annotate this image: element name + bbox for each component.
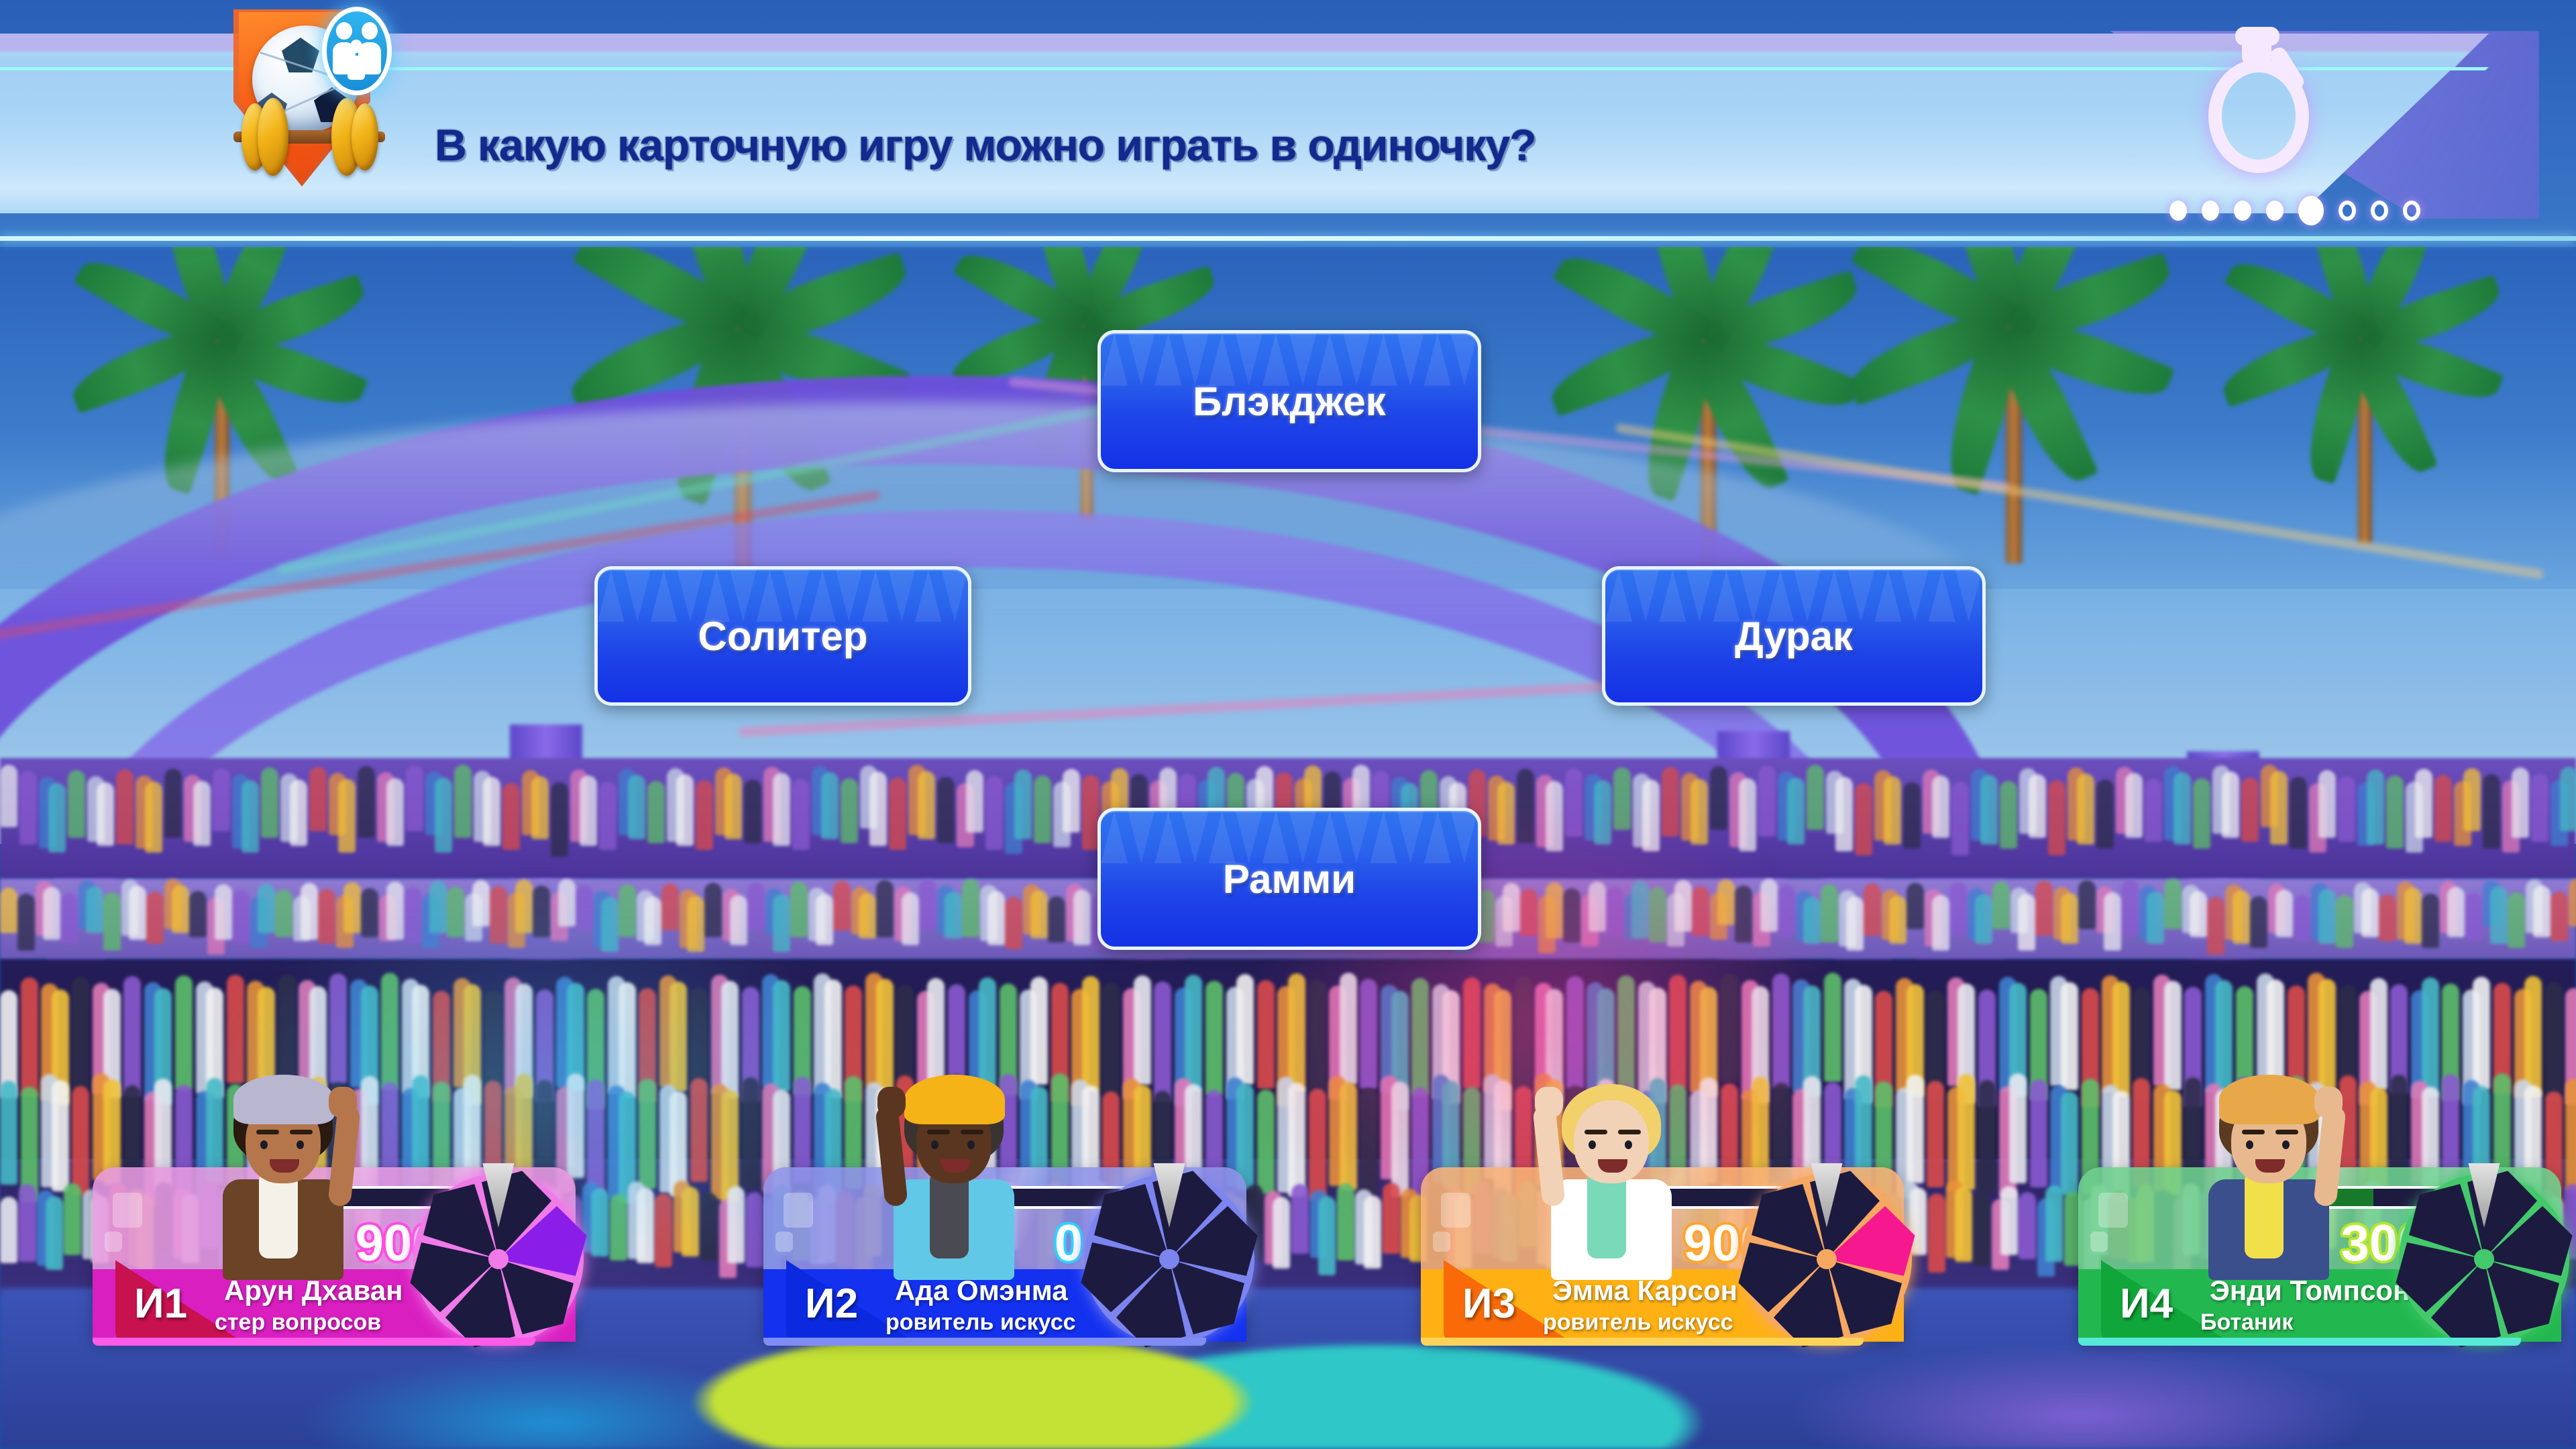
header-bottom-edge bbox=[0, 236, 2576, 241]
family-people-icon bbox=[322, 7, 392, 95]
answer-button-1[interactable]: Блэкджек bbox=[1097, 330, 1481, 472]
wheel-hub bbox=[1817, 1249, 1837, 1269]
triangle-shape bbox=[1874, 570, 1901, 622]
player-card[interactable]: 0И2Ада Омэнмаровитель искусс bbox=[711, 1167, 1301, 1362]
triangle-shape bbox=[1424, 333, 1451, 386]
triangle-shape bbox=[1128, 811, 1155, 863]
triangle-shape bbox=[598, 570, 624, 622]
card-decor-chip bbox=[2098, 1193, 2128, 1228]
triangle-shape bbox=[1451, 811, 1478, 863]
card-decor-chip bbox=[113, 1193, 142, 1228]
answer-label-2: Солитер bbox=[698, 613, 868, 659]
progress-dot-completed bbox=[2202, 201, 2219, 221]
player-slot-label: И1 bbox=[134, 1280, 187, 1328]
triangle-shape bbox=[1955, 570, 1982, 622]
card-decor-chip bbox=[784, 1193, 813, 1228]
player-card-baseline bbox=[93, 1338, 535, 1346]
triangle-shape bbox=[1397, 333, 1424, 386]
progress-dot-completed bbox=[2266, 201, 2284, 221]
triangle-shape bbox=[1632, 570, 1659, 622]
triangle-shape bbox=[889, 570, 915, 622]
stopwatch-icon bbox=[2200, 20, 2328, 174]
card-decor-chip bbox=[775, 1232, 793, 1252]
question-text: В какую карточную игру можно играть в од… bbox=[435, 119, 1884, 170]
progress-dot-upcoming bbox=[2371, 201, 2388, 221]
player-card-baseline bbox=[2078, 1338, 2521, 1346]
player-card-baseline bbox=[1421, 1338, 1864, 1346]
triangle-shape bbox=[941, 570, 967, 622]
player-title: ровитель искусс bbox=[885, 1309, 1100, 1336]
wheel-hub bbox=[2474, 1249, 2494, 1269]
answer-button-3[interactable]: Дурак bbox=[1602, 566, 1986, 706]
player-answer-wheel bbox=[413, 1174, 584, 1344]
triangle-shape bbox=[1424, 811, 1451, 863]
triangle-shape bbox=[1686, 570, 1713, 622]
triangle-shape bbox=[624, 570, 650, 622]
avatar bbox=[195, 1079, 416, 1280]
triangle-shape bbox=[1605, 570, 1632, 622]
dumbbell-icon bbox=[232, 93, 386, 180]
progress-dot-current bbox=[2298, 196, 2324, 225]
triangle-shape bbox=[1155, 333, 1181, 386]
card-decor-chip bbox=[1433, 1232, 1450, 1252]
player-slot-label: И4 bbox=[2120, 1280, 2173, 1328]
question-header: В какую карточную игру можно играть в од… bbox=[0, 0, 2576, 247]
player-answer-wheel bbox=[1084, 1174, 1254, 1344]
triangle-shape bbox=[1181, 811, 1208, 863]
answer-button-2[interactable]: Солитер bbox=[594, 566, 971, 706]
answer-label-4: Рамми bbox=[1223, 856, 1356, 902]
card-decor-chip bbox=[2090, 1232, 2108, 1252]
player-answer-wheel bbox=[1741, 1174, 1912, 1344]
card-decor-chip bbox=[105, 1232, 122, 1252]
wheel-hub bbox=[1159, 1249, 1179, 1269]
answer-label-1: Блэкджек bbox=[1193, 378, 1386, 425]
triangle-shape bbox=[1659, 570, 1686, 622]
player-card[interactable]: 900И1Арун Дхаванстер вопросов bbox=[40, 1167, 631, 1362]
player-title: ровитель искусс bbox=[1543, 1309, 1758, 1336]
card-decor-chip bbox=[1441, 1193, 1470, 1228]
answer-button-4[interactable]: Рамми bbox=[1097, 808, 1481, 950]
triangle-shape bbox=[1101, 811, 1128, 863]
triangle-shape bbox=[1155, 811, 1181, 863]
progress-dot-upcoming bbox=[2403, 201, 2420, 221]
player-title: стер вопросов bbox=[215, 1309, 429, 1336]
progress-dot-upcoming bbox=[2339, 201, 2356, 221]
progress-dot-completed bbox=[2234, 201, 2251, 221]
wheel-hub bbox=[488, 1249, 508, 1269]
player-slot-label: И3 bbox=[1462, 1280, 1515, 1328]
avatar bbox=[2180, 1079, 2402, 1280]
player-card[interactable]: 900И3Эмма Карсонровитель искусс bbox=[1368, 1167, 1959, 1362]
player-answer-wheel bbox=[2399, 1174, 2569, 1344]
progress-dot-completed bbox=[2169, 201, 2187, 221]
triangle-shape bbox=[1929, 570, 1955, 622]
triangle-shape bbox=[1397, 811, 1424, 863]
avatar bbox=[865, 1079, 1087, 1280]
avatar bbox=[1523, 1079, 1744, 1280]
triangle-shape bbox=[1128, 333, 1155, 386]
question-progress-dots bbox=[2169, 196, 2420, 225]
triangle-shape bbox=[1370, 811, 1397, 863]
triangle-shape bbox=[1902, 570, 1929, 622]
player-card-baseline bbox=[763, 1338, 1206, 1346]
triangle-shape bbox=[1451, 333, 1478, 386]
triangle-shape bbox=[651, 570, 677, 622]
player-title: Ботаник bbox=[2200, 1309, 2415, 1336]
player-slot-label: И2 bbox=[805, 1280, 858, 1328]
player-card[interactable]: 300И4Энди ТомпсонБотаник bbox=[2026, 1167, 2576, 1362]
answer-label-3: Дурак bbox=[1735, 613, 1853, 659]
category-icon bbox=[182, 7, 397, 208]
triangle-shape bbox=[1101, 333, 1128, 386]
triangle-shape bbox=[915, 570, 941, 622]
